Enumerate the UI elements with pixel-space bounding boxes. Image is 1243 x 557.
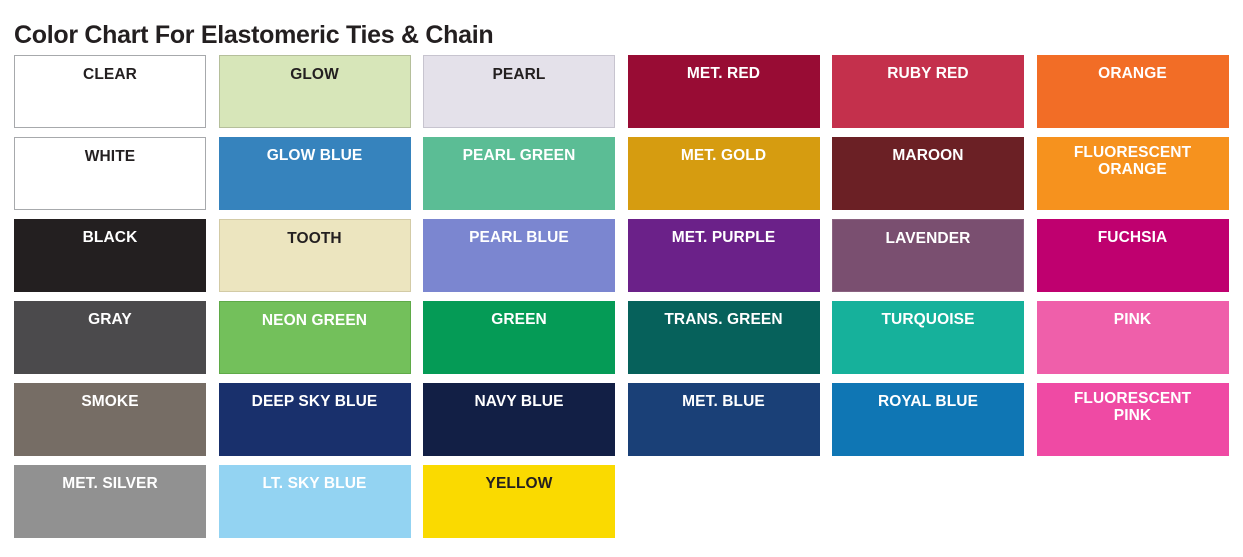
color-swatch[interactable]: LAVENDER <box>832 219 1024 292</box>
color-swatch-label: ROYAL BLUE <box>836 393 1020 410</box>
color-swatch[interactable]: GLOW <box>219 55 411 128</box>
color-swatch-label: PEARL BLUE <box>427 229 611 246</box>
color-swatch[interactable]: MET. PURPLE <box>628 219 820 292</box>
color-swatch-label: GLOW BLUE <box>223 147 407 164</box>
color-swatch[interactable]: PEARL GREEN <box>423 137 615 210</box>
color-swatch[interactable]: TOOTH <box>219 219 411 292</box>
color-swatch-label: NAVY BLUE <box>427 393 611 410</box>
color-swatch[interactable]: MET. SILVER <box>14 465 206 538</box>
color-swatch-label: MET. BLUE <box>632 393 816 410</box>
color-swatch-label: DEEP SKY BLUE <box>223 393 407 410</box>
color-swatch-label: SMOKE <box>18 393 202 410</box>
color-swatch[interactable]: SMOKE <box>14 383 206 456</box>
color-swatch-label: WHITE <box>19 148 201 165</box>
color-swatch[interactable]: ROYAL BLUE <box>832 383 1024 456</box>
color-swatch-label: LT. SKY BLUE <box>223 475 407 492</box>
color-swatch[interactable]: PINK <box>1037 301 1229 374</box>
color-swatch[interactable]: PEARL <box>423 55 615 128</box>
color-swatch-label: NEON GREEN <box>224 312 406 329</box>
color-swatch-label: MET. RED <box>632 65 816 82</box>
color-swatch[interactable]: FUCHSIA <box>1037 219 1229 292</box>
color-swatch[interactable]: GRAY <box>14 301 206 374</box>
color-swatch-label: FLUORESCENT PINK <box>1041 390 1225 424</box>
color-swatch-label: TRANS. GREEN <box>632 311 816 328</box>
color-swatch-label: GLOW <box>224 66 406 83</box>
color-swatch[interactable]: PEARL BLUE <box>423 219 615 292</box>
color-swatch-grid: CLEARGLOWPEARLMET. REDRUBY REDORANGEWHIT… <box>14 55 1226 538</box>
color-swatch-label: CLEAR <box>19 66 201 83</box>
color-swatch-label: MAROON <box>836 147 1020 164</box>
color-swatch-label: TURQUOISE <box>836 311 1020 328</box>
color-chart-page: Color Chart For Elastomeric Ties & Chain… <box>0 0 1243 557</box>
color-swatch-label: PEARL GREEN <box>427 147 611 164</box>
color-swatch-label: PINK <box>1041 311 1225 328</box>
color-swatch[interactable]: YELLOW <box>423 465 615 538</box>
color-swatch-label: GREEN <box>427 311 611 328</box>
color-swatch-label: LAVENDER <box>837 230 1019 247</box>
page-title: Color Chart For Elastomeric Ties & Chain <box>14 18 493 52</box>
color-swatch[interactable]: TRANS. GREEN <box>628 301 820 374</box>
color-swatch-label: FLUORESCENT ORANGE <box>1041 144 1225 178</box>
color-swatch-label: YELLOW <box>427 475 611 492</box>
color-swatch-label: BLACK <box>18 229 202 246</box>
color-swatch-label: MET. SILVER <box>18 475 202 492</box>
color-swatch[interactable]: ORANGE <box>1037 55 1229 128</box>
color-swatch[interactable]: FLUORESCENT PINK <box>1037 383 1229 456</box>
color-swatch-label: MET. PURPLE <box>632 229 816 246</box>
color-swatch-label: ORANGE <box>1041 65 1225 82</box>
color-swatch[interactable]: RUBY RED <box>832 55 1024 128</box>
color-swatch[interactable]: MET. RED <box>628 55 820 128</box>
color-swatch[interactable]: NEON GREEN <box>219 301 411 374</box>
color-swatch-label: RUBY RED <box>836 65 1020 82</box>
color-swatch-label: TOOTH <box>224 230 406 247</box>
color-swatch[interactable]: BLACK <box>14 219 206 292</box>
color-swatch[interactable]: TURQUOISE <box>832 301 1024 374</box>
color-swatch[interactable]: FLUORESCENT ORANGE <box>1037 137 1229 210</box>
color-swatch[interactable]: MET. BLUE <box>628 383 820 456</box>
color-swatch-label: GRAY <box>18 311 202 328</box>
color-swatch-label: FUCHSIA <box>1041 229 1225 246</box>
color-swatch[interactable]: GREEN <box>423 301 615 374</box>
color-swatch[interactable]: MAROON <box>832 137 1024 210</box>
color-swatch[interactable]: LT. SKY BLUE <box>219 465 411 538</box>
color-swatch-label: MET. GOLD <box>632 147 816 164</box>
color-swatch-label: PEARL <box>428 66 610 83</box>
color-swatch[interactable]: NAVY BLUE <box>423 383 615 456</box>
color-swatch[interactable]: CLEAR <box>14 55 206 128</box>
color-swatch[interactable]: DEEP SKY BLUE <box>219 383 411 456</box>
color-swatch[interactable]: MET. GOLD <box>628 137 820 210</box>
color-swatch[interactable]: WHITE <box>14 137 206 210</box>
color-swatch[interactable]: GLOW BLUE <box>219 137 411 210</box>
